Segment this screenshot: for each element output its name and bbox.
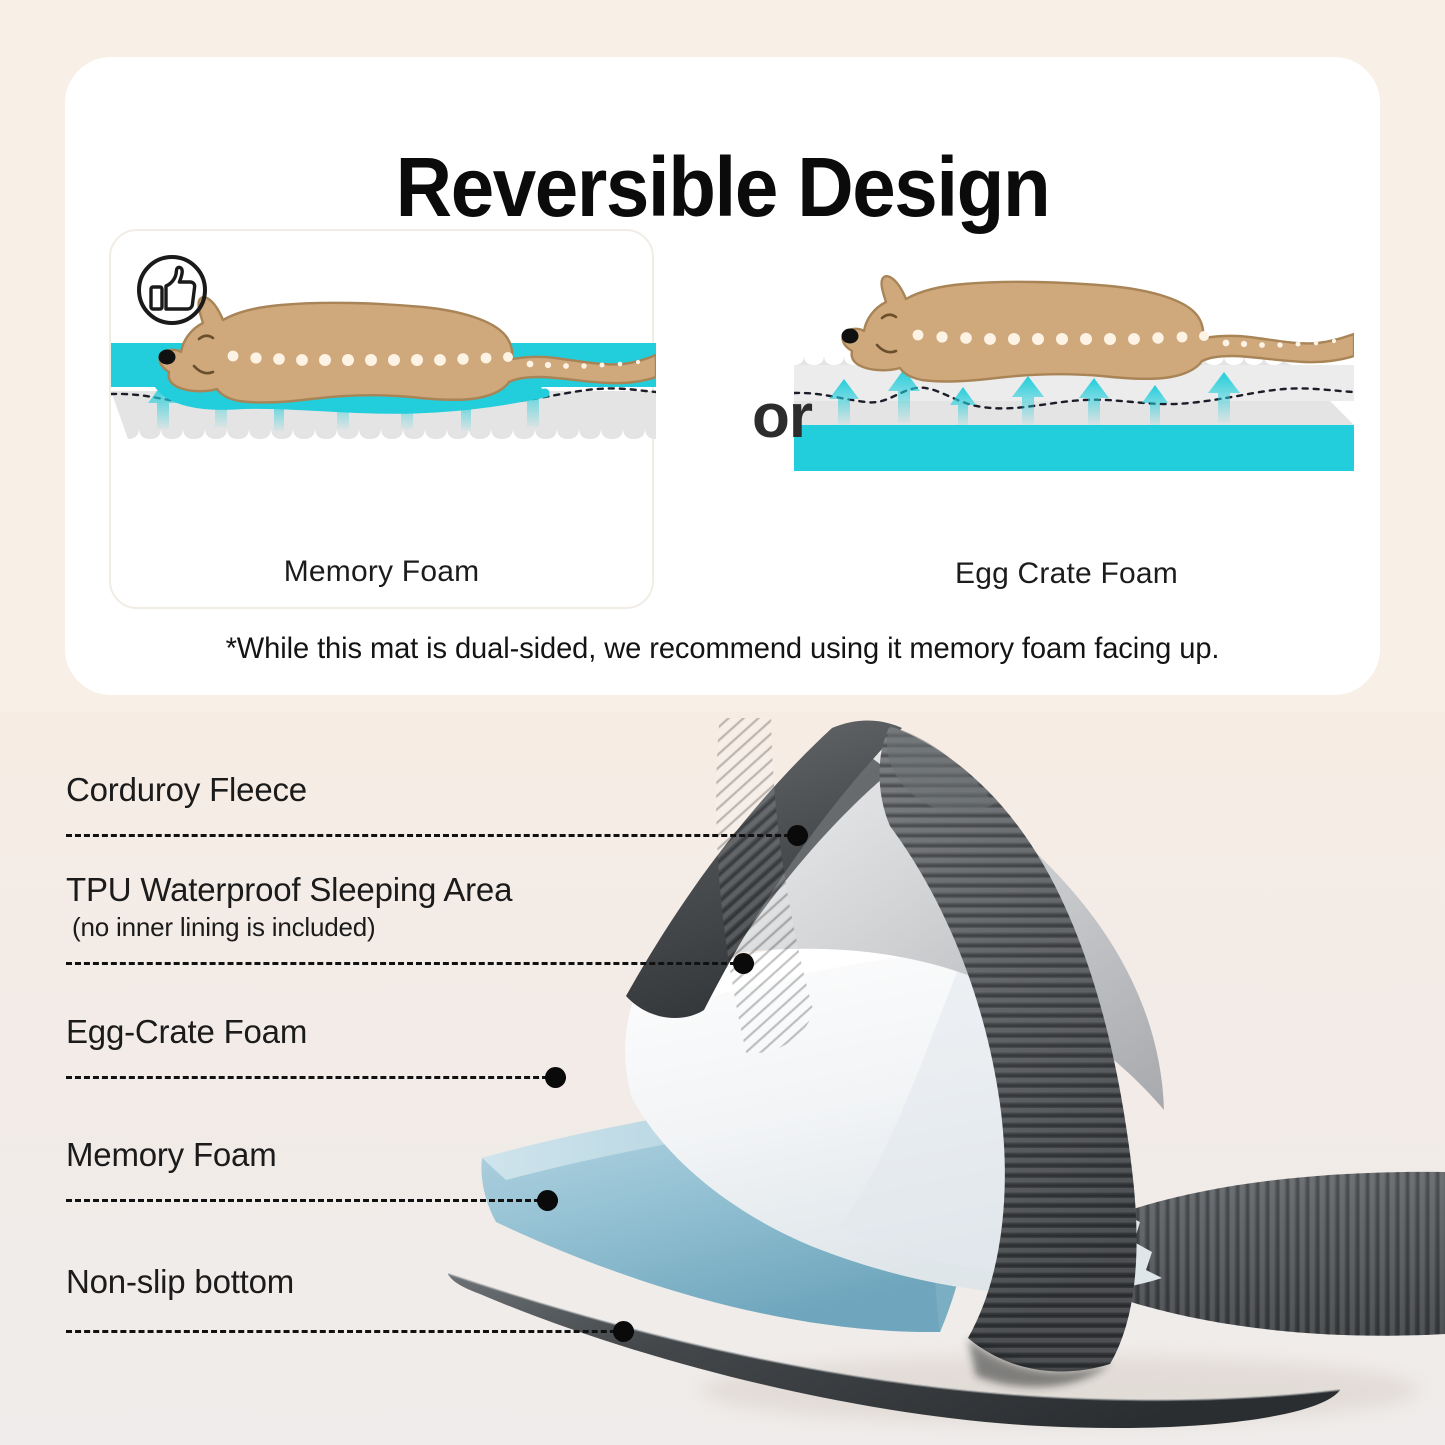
panel-memory-foam[interactable]: Memory Foam — [109, 229, 654, 609]
callout-tpu-waterproof: TPU Waterproof Sleeping Area (no inner l… — [66, 870, 512, 944]
or-separator-label: or — [722, 381, 842, 452]
callout-label: TPU Waterproof Sleeping Area — [66, 870, 512, 910]
callout-label: Non-slip bottom — [66, 1262, 294, 1302]
panel-egg-crate-foam[interactable]: Egg Crate Foam — [794, 229, 1339, 609]
infographic-stage: Reversible Design — [0, 0, 1445, 1445]
callout-label: Corduroy Fleece — [66, 770, 307, 810]
callout-memory-foam: Memory Foam — [66, 1135, 277, 1175]
callout-labels: Corduroy Fleece TPU Waterproof Sleeping … — [0, 712, 1445, 1445]
callout-non-slip-bottom: Non-slip bottom — [66, 1262, 294, 1302]
leader-line-tpu-waterproof — [66, 962, 754, 965]
callout-egg-crate-foam: Egg-Crate Foam — [66, 1012, 307, 1052]
callout-corduroy-fleece: Corduroy Fleece — [66, 770, 307, 810]
panel-caption-memory-foam: Memory Foam — [111, 555, 652, 589]
leader-line-corduroy-fleece — [66, 834, 808, 837]
egg-crate-foam-illustration — [794, 229, 1354, 529]
disclaimer-text: *While this mat is dual-sided, we recomm… — [85, 632, 1361, 666]
callout-sublabel: (no inner lining is included) — [66, 910, 512, 944]
leader-line-non-slip-bottom — [66, 1330, 634, 1333]
panel-caption-egg-crate-foam: Egg Crate Foam — [794, 557, 1339, 591]
comparison-panels: Memory Foam — [109, 229, 1339, 609]
thumbs-up-icon — [135, 253, 209, 327]
reversible-design-card: Reversible Design — [65, 57, 1380, 695]
leader-line-egg-crate-foam — [66, 1076, 566, 1079]
callout-label: Memory Foam — [66, 1135, 277, 1175]
callout-label: Egg-Crate Foam — [66, 1012, 307, 1052]
leader-line-memory-foam — [66, 1199, 558, 1202]
page-title: Reversible Design — [111, 145, 1334, 229]
